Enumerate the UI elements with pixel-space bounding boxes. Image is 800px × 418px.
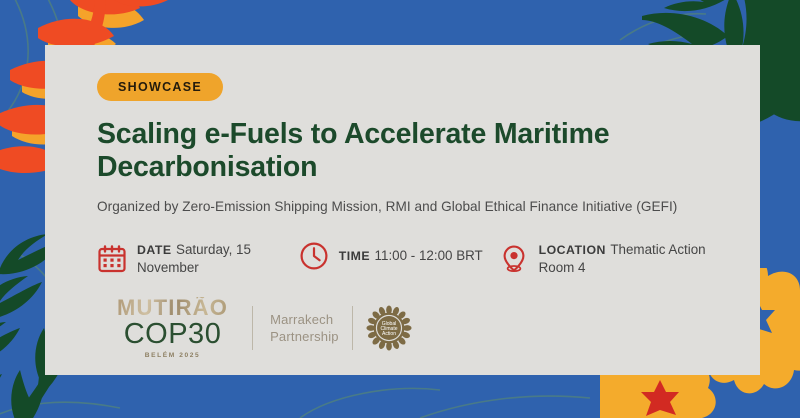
location-pin-icon (499, 244, 529, 274)
marrakech-divider (352, 306, 353, 350)
cop30-text: COP30 (117, 320, 228, 349)
global-climate-action-emblem-icon: Global Climate Action (366, 305, 412, 351)
cop30-logo: MUTIRÃO COP30 BELÉM 2025 (117, 297, 228, 360)
event-time-text: TIME 11:00 - 12:00 BRT (339, 247, 483, 265)
event-location-label: LOCATION (539, 243, 606, 257)
event-location-item: LOCATION Thematic Action Room 4 (499, 241, 737, 277)
cop30-mutirao-text: MUTIRÃO (117, 297, 228, 319)
marrakech-line-2: Partnership (270, 328, 339, 345)
event-organizers: Organized by Zero-Emission Shipping Miss… (97, 198, 737, 216)
event-date-text: DATE Saturday, 15 November (137, 241, 299, 277)
event-banner: SHOWCASE Scaling e-Fuels to Accelerate M… (0, 0, 800, 418)
event-location-text: LOCATION Thematic Action Room 4 (539, 241, 737, 277)
event-time-value: 11:00 - 12:00 BRT (375, 248, 483, 263)
clock-icon (299, 241, 329, 271)
showcase-badge: SHOWCASE (97, 73, 223, 101)
marrakech-line-1: Marrakech (270, 311, 339, 328)
logo-row: MUTIRÃO COP30 BELÉM 2025 Marrakech Partn… (117, 297, 412, 360)
marrakech-partnership-text: Marrakech Partnership (270, 311, 339, 345)
card-content: SHOWCASE Scaling e-Fuels to Accelerate M… (97, 73, 737, 277)
event-details-row: DATE Saturday, 15 November TIME 11:00 - … (97, 241, 737, 277)
calendar-icon (97, 244, 127, 274)
gca-line-3: Action (382, 331, 396, 337)
logo-divider (252, 306, 253, 350)
event-title: Scaling e-Fuels to Accelerate Maritime D… (97, 118, 697, 184)
event-date-label: DATE (137, 243, 172, 257)
event-time-label: TIME (339, 249, 370, 263)
event-date-item: DATE Saturday, 15 November (97, 241, 299, 277)
event-time-item: TIME 11:00 - 12:00 BRT (299, 241, 499, 271)
cop30-belem-text: BELÉM 2025 (117, 353, 228, 360)
event-card: SHOWCASE Scaling e-Fuels to Accelerate M… (45, 45, 760, 375)
